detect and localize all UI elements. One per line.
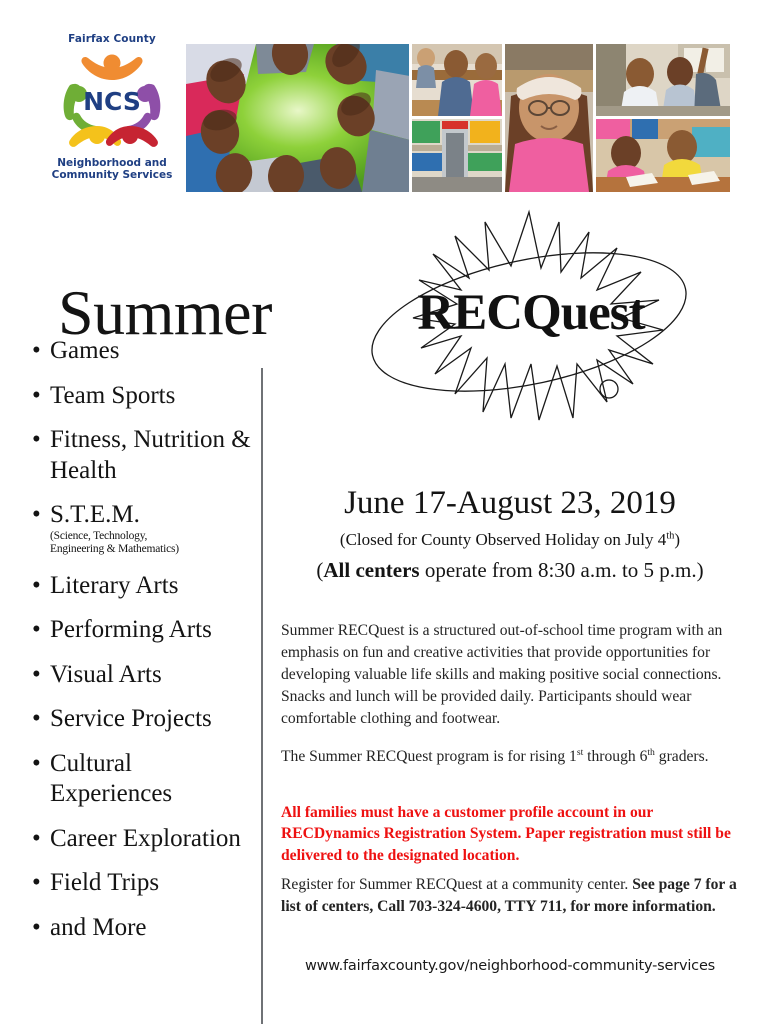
logo-top-caption: Fairfax County bbox=[42, 34, 182, 46]
activity-label: S.T.E.M. bbox=[50, 501, 140, 528]
ncs-people-circle-logo: NCS bbox=[53, 48, 171, 156]
activity-list-item: •S.T.E.M.(Science, Technology,Engineerin… bbox=[24, 500, 259, 557]
logo-bottom-caption: Neighborhood and Community Services bbox=[42, 158, 182, 182]
bullet-icon: • bbox=[32, 824, 41, 855]
activity-label: Career Exploration bbox=[50, 825, 241, 852]
program-date-heading: June 17-August 23, 2019 bbox=[275, 485, 745, 522]
register-text-normal: Register for Summer RECQuest at a commun… bbox=[281, 876, 632, 893]
activity-sublabel-line2: Engineering & Mathematics) bbox=[50, 543, 179, 555]
photo-girl-portrait bbox=[505, 44, 593, 192]
activity-list-item: •Team Sports bbox=[24, 381, 259, 412]
header-photo-strip bbox=[186, 44, 730, 192]
activity-sublabel: (Science, Technology,Engineering & Mathe… bbox=[50, 530, 259, 557]
photo-column-a bbox=[412, 44, 502, 192]
activity-list-item: •Fitness, Nutrition & Health bbox=[24, 425, 259, 486]
photo-children-at-table bbox=[596, 119, 730, 192]
grades-text-part2: through 6 bbox=[583, 748, 647, 765]
activity-label: Visual Arts bbox=[50, 661, 162, 688]
activity-list-item: •Field Trips bbox=[24, 868, 259, 899]
program-description-paragraph: Summer RECQuest is a structured out-of-s… bbox=[281, 620, 739, 731]
photo-craft-activity bbox=[412, 44, 502, 116]
activity-sublabel-line1: (Science, Technology, bbox=[50, 530, 147, 542]
svg-text:NCS: NCS bbox=[83, 87, 141, 116]
column-divider bbox=[261, 368, 263, 1024]
grades-text-part1: The Summer RECQuest program is for risin… bbox=[281, 748, 577, 765]
activity-list-item: •Cultural Experiences bbox=[24, 749, 259, 810]
activity-label: Team Sports bbox=[50, 382, 175, 409]
bullet-icon: • bbox=[32, 571, 41, 602]
activity-label: Field Trips bbox=[50, 869, 159, 896]
holiday-closure-note: (Closed for County Observed Holiday on J… bbox=[275, 530, 745, 550]
activity-label: Cultural Experiences bbox=[50, 750, 172, 808]
logo-bottom-caption-line2: Community Services bbox=[42, 170, 182, 182]
holiday-note-after: ) bbox=[674, 530, 680, 549]
website-url[interactable]: www.fairfaxcounty.gov/neighborhood-commu… bbox=[281, 958, 739, 974]
bullet-icon: • bbox=[32, 749, 41, 780]
registration-instructions-paragraph: Register for Summer RECQuest at a commun… bbox=[281, 874, 739, 918]
activity-list-item: •Games bbox=[24, 336, 259, 367]
activity-list-item: •Literary Arts bbox=[24, 571, 259, 602]
bullet-icon: • bbox=[32, 868, 41, 899]
photo-computer-lab bbox=[412, 119, 502, 192]
bullet-icon: • bbox=[32, 336, 41, 367]
activity-label: Games bbox=[50, 337, 119, 364]
activity-list-item: •Career Exploration bbox=[24, 824, 259, 855]
activity-label: Performing Arts bbox=[50, 616, 212, 643]
holiday-note-before: (Closed for County Observed Holiday on J… bbox=[340, 530, 666, 549]
ncs-logo-block: Fairfax County bbox=[42, 34, 182, 181]
page-header: Fairfax County bbox=[0, 0, 770, 205]
bullet-icon: • bbox=[32, 615, 41, 646]
registration-warning-notice: All families must have a customer profil… bbox=[281, 802, 739, 867]
bullet-icon: • bbox=[32, 500, 41, 531]
activity-label: Service Projects bbox=[50, 705, 212, 732]
activity-label: Literary Arts bbox=[50, 572, 178, 599]
activity-list-item: •and More bbox=[24, 913, 259, 944]
activity-list-item: •Visual Arts bbox=[24, 660, 259, 691]
logo-bottom-caption-line1: Neighborhood and bbox=[42, 158, 182, 170]
bullet-icon: • bbox=[32, 381, 41, 412]
activity-label: and More bbox=[50, 914, 147, 941]
grade-eligibility-paragraph: The Summer RECQuest program is for risin… bbox=[281, 746, 739, 768]
bullet-icon: • bbox=[32, 913, 41, 944]
photo-column-b bbox=[596, 44, 730, 192]
activity-label: Fitness, Nutrition & Health bbox=[50, 426, 251, 484]
activity-list-item: •Performing Arts bbox=[24, 615, 259, 646]
grades-text-part3: graders. bbox=[655, 748, 709, 765]
activity-list: •Games•Team Sports•Fitness, Nutrition & … bbox=[24, 336, 259, 957]
photo-classroom-raised-hands bbox=[596, 44, 730, 116]
hours-note-rest: operate from 8:30 a.m. to 5 p.m.) bbox=[420, 558, 704, 582]
bullet-icon: • bbox=[32, 425, 41, 456]
photo-group-of-children-circle bbox=[186, 44, 409, 192]
grades-ordinal-sixth: th bbox=[647, 746, 655, 757]
recquest-starburst-orbit-logo: RECQuest bbox=[345, 206, 713, 428]
bullet-icon: • bbox=[32, 704, 41, 735]
bullet-icon: • bbox=[32, 660, 41, 691]
operating-hours-note: (All centers operate from 8:30 a.m. to 5… bbox=[275, 558, 745, 583]
hours-note-emphasis: All centers bbox=[323, 558, 419, 582]
activity-list-item: •Service Projects bbox=[24, 704, 259, 735]
